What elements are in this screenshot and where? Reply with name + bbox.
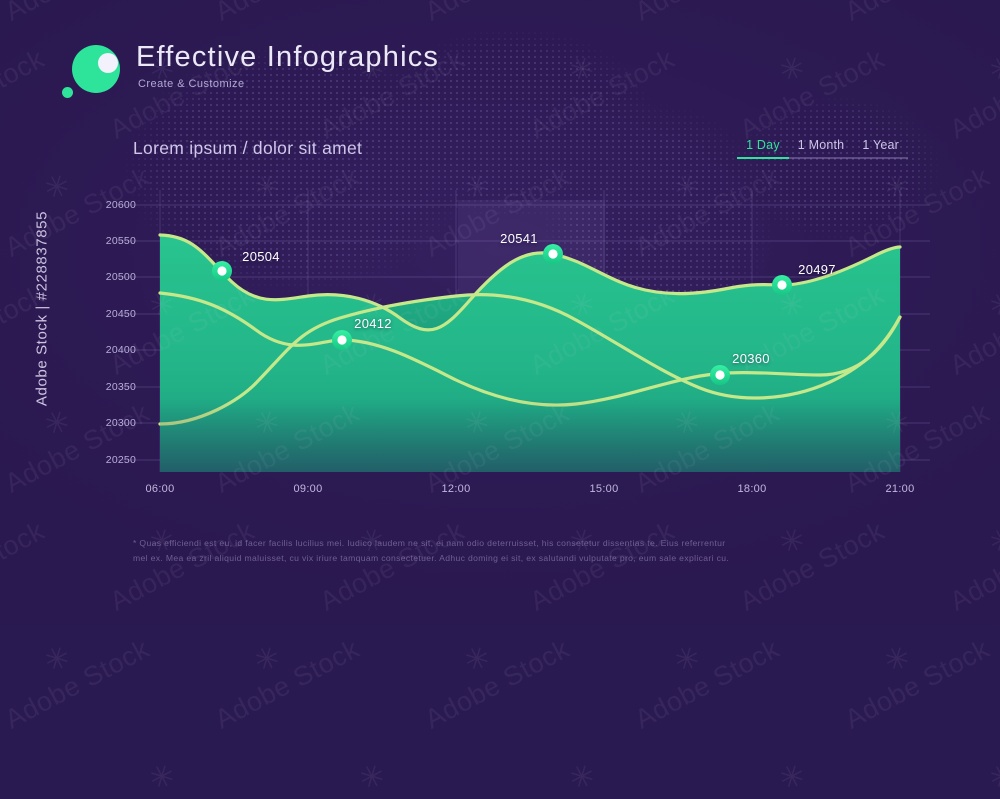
circle-logo-icon [62,40,124,106]
page-title: Effective Infographics [136,42,439,72]
data-point-label: 20541 [500,231,538,246]
tab-1-day-label: 1 Day [746,138,780,152]
logo-small-dot [62,87,73,98]
watermark-star-icon: ✳ [353,756,392,799]
tab-1-month[interactable]: 1 Month [789,138,854,159]
watermark-tile: Adobe Stock [210,634,365,736]
logo-inner-circle [98,53,118,73]
watermark-star-icon: ✳ [668,638,707,681]
tab-1-year[interactable]: 1 Year [853,138,908,159]
x-tick-label: 06:00 [145,483,174,495]
watermark-star-icon: ✳ [878,638,917,681]
tab-1-month-label: 1 Month [798,138,845,152]
watermark-tile: Adobe Stock [630,634,785,736]
watermark-star-icon: ✳ [773,756,812,799]
watermark-star-icon: ✳ [248,638,287,681]
x-tick-label: 15:00 [589,483,618,495]
data-point-label: 20497 [798,262,836,277]
watermark-star-icon: ✳ [563,756,602,799]
tab-1-year-underline [853,157,908,159]
x-tick-label: 21:00 [885,483,914,495]
watermark-star-icon: ✳ [983,756,1000,799]
watermark-tile: Adobe Stock [0,634,155,736]
chart-title: Lorem ipsum / dolor sit amet [133,138,362,159]
watermark-star-icon: ✳ [458,638,497,681]
watermark-star-icon: ✳ [143,756,182,799]
data-point-label: 20412 [354,316,392,331]
range-tabs: 1 Day 1 Month 1 Year [737,138,908,159]
tab-1-day-underline [737,157,789,160]
page-subtitle: Create & Customize [138,78,439,90]
data-point-label: 20360 [732,351,770,366]
page-header: Effective Infographics Create & Customiz… [62,40,439,106]
x-tick-label: 09:00 [293,483,322,495]
footer-note: * Quas efficiendi est eu, id facer facil… [133,536,733,566]
chart-header-row: Lorem ipsum / dolor sit amet 1 Day 1 Mon… [133,138,908,159]
brand-block: Effective Infographics Create & Customiz… [136,40,439,90]
watermark-star-icon: ✳ [38,638,77,681]
tab-1-month-underline [789,157,854,159]
watermark-tile: Adobe Stock [420,634,575,736]
watermark-tile: Adobe Stock [840,634,995,736]
tab-1-year-label: 1 Year [862,138,899,152]
x-tick-label: 18:00 [737,483,766,495]
tab-1-day[interactable]: 1 Day [737,138,789,159]
x-tick-label: 12:00 [441,483,470,495]
data-point-label: 20504 [242,249,280,264]
